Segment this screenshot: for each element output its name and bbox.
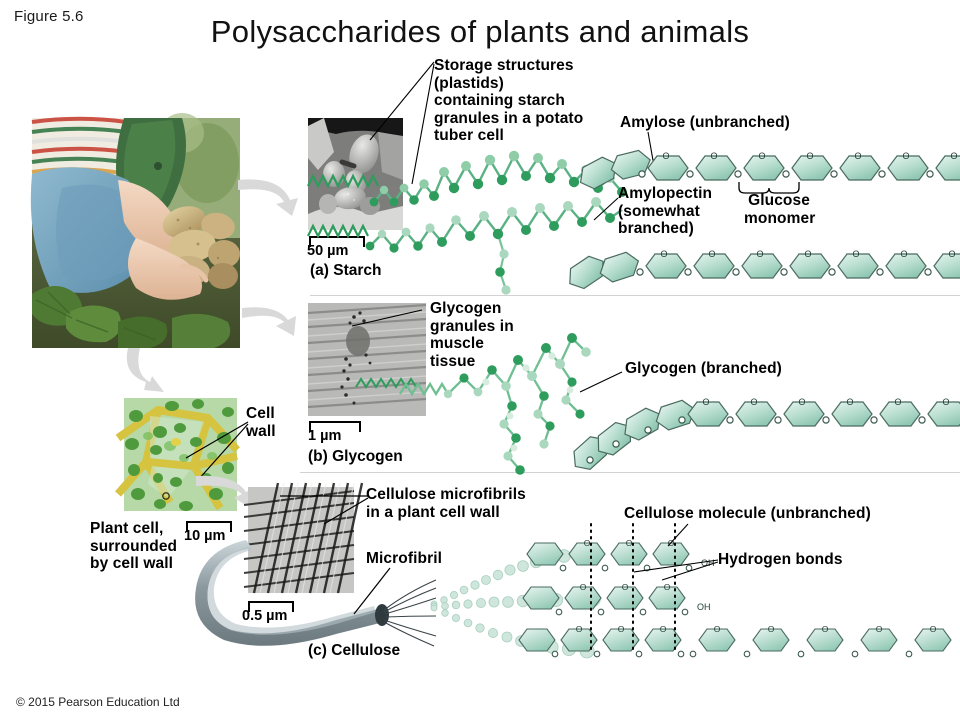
svg-text:O: O <box>576 624 583 634</box>
svg-text:O: O <box>660 249 667 259</box>
leader-hydrogen-bonds <box>632 552 724 586</box>
leader-cellulose-microfibrils <box>280 492 372 530</box>
svg-text:O: O <box>758 151 765 161</box>
potato-harvest-photo <box>32 118 240 348</box>
svg-text:O: O <box>750 397 757 407</box>
svg-text:O: O <box>894 397 901 407</box>
label-hydrogen-bonds: Hydrogen bonds <box>718 551 843 569</box>
svg-text:O: O <box>798 397 805 407</box>
svg-text:O: O <box>846 397 853 407</box>
section-label-glycogen: (b) Glycogen <box>308 448 403 466</box>
amylopectin-ring-chain: OOO OOO O <box>560 236 960 296</box>
label-cell-wall: Cell wall <box>246 405 276 440</box>
arrow-potato-to-glycogen <box>242 300 312 344</box>
svg-text:O: O <box>950 151 957 161</box>
scalebar-50um-label: 50 µm <box>307 243 348 259</box>
svg-text:O: O <box>626 538 633 548</box>
leader-microfibril <box>352 566 396 618</box>
svg-text:O: O <box>708 249 715 259</box>
cellulose-molecule-chains: OOO OH OOO OH OOO OOO <box>555 528 960 658</box>
svg-text:O: O <box>900 249 907 259</box>
svg-text:O: O <box>852 249 859 259</box>
cellulose-micrograph-caption: Cellulose microfibrils in a plant cell w… <box>366 486 596 521</box>
svg-text:O: O <box>854 151 861 161</box>
copyright-notice: © 2015 Pearson Education Ltd <box>16 695 180 709</box>
svg-text:O: O <box>930 624 937 634</box>
leader-cellulose-molecule <box>662 522 694 550</box>
oh-label-2: OH <box>697 602 711 612</box>
svg-text:O: O <box>768 624 775 634</box>
svg-text:O: O <box>662 151 669 161</box>
svg-text:O: O <box>702 397 709 407</box>
svg-text:O: O <box>942 397 949 407</box>
arrow-potato-to-micrograph <box>236 170 316 240</box>
svg-text:O: O <box>822 624 829 634</box>
svg-text:O: O <box>584 538 591 548</box>
leader-glycogen-granules <box>352 308 424 332</box>
svg-text:O: O <box>714 624 721 634</box>
svg-text:O: O <box>622 582 629 592</box>
svg-text:O: O <box>804 249 811 259</box>
svg-text:O: O <box>806 151 813 161</box>
svg-text:O: O <box>902 151 909 161</box>
svg-text:O: O <box>756 249 763 259</box>
glycogen-ring-chain: OOO OOO <box>560 378 960 478</box>
svg-text:O: O <box>580 582 587 592</box>
starch-micrograph-caption: Storage structures (plastids) containing… <box>434 57 634 145</box>
svg-text:O: O <box>948 249 955 259</box>
svg-text:O: O <box>710 151 717 161</box>
svg-text:O: O <box>660 624 667 634</box>
label-amylose: Amylose (unbranched) <box>620 114 790 132</box>
label-glycogen-branched: Glycogen (branched) <box>625 360 782 378</box>
arrow-potato-to-plantcell <box>120 348 190 400</box>
svg-text:O: O <box>876 624 883 634</box>
label-glucose-monomer: Glucose monomer <box>744 192 814 227</box>
leader-amylopectin <box>592 196 624 226</box>
scalebar-1um-label: 1 µm <box>308 428 341 444</box>
label-cellulose-molecule: Cellulose molecule (unbranched) <box>624 505 871 523</box>
svg-text:O: O <box>618 624 625 634</box>
page-title: Polysaccharides of plants and animals <box>0 14 960 50</box>
